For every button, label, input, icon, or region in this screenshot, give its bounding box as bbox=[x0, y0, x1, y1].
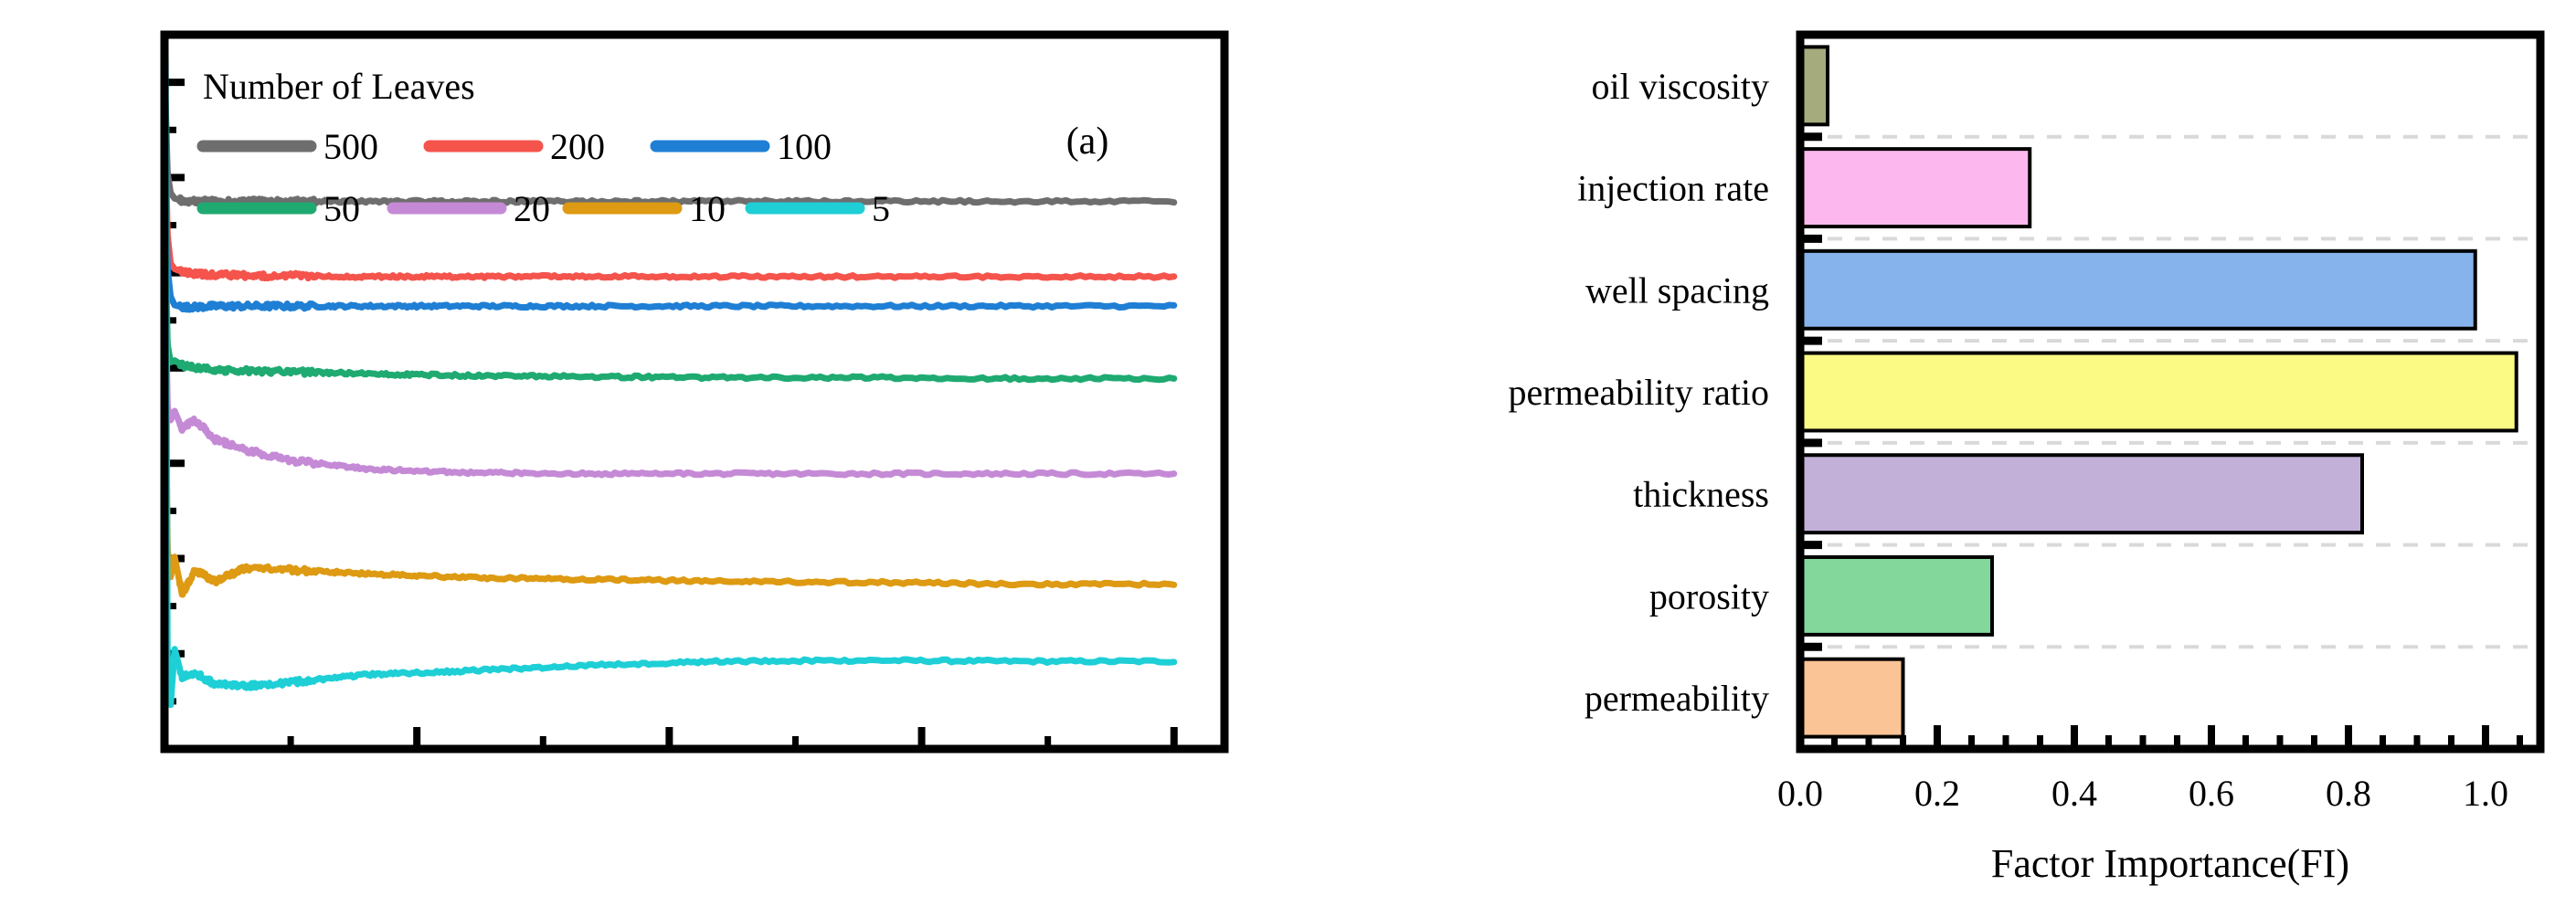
clip-top bbox=[0, 0, 1261, 31]
panel-a-line-chart: 4050607080901001100500100015002000Number… bbox=[0, 0, 1261, 917]
x-tick-label: 0.6 bbox=[2189, 773, 2234, 814]
legend-label-50: 50 bbox=[323, 188, 360, 229]
bar-chart-svg: oil viscosityinjection ratewell spacingp… bbox=[1261, 0, 2576, 917]
panel-tag-a: (a) bbox=[1066, 121, 1109, 163]
x-tick-label: 0.4 bbox=[2051, 773, 2097, 814]
line-series-50 bbox=[164, 244, 1174, 379]
clip-right bbox=[1229, 0, 1261, 917]
bar-injection-rate[interactable] bbox=[1800, 149, 2030, 227]
legend-label-200: 200 bbox=[550, 126, 605, 167]
bar-permeability-ratio[interactable] bbox=[1800, 353, 2517, 431]
figure-container: 4050607080901001100500100015002000Number… bbox=[0, 0, 2576, 917]
line-series-20 bbox=[164, 292, 1174, 476]
bar-category-label: porosity bbox=[1649, 575, 1769, 617]
bar-thickness[interactable] bbox=[1800, 455, 2362, 532]
line-series-10 bbox=[164, 368, 1174, 595]
bar-well-spacing[interactable] bbox=[1800, 251, 2475, 329]
legend-title: Number of Leaves bbox=[203, 66, 475, 107]
bar-permeability[interactable] bbox=[1800, 659, 1903, 737]
x-tick-label: 1.0 bbox=[2463, 773, 2508, 814]
bar-category-label: well spacing bbox=[1585, 269, 1769, 311]
legend-label-500: 500 bbox=[323, 126, 378, 167]
clip-bottom bbox=[0, 754, 1261, 917]
bar-porosity[interactable] bbox=[1800, 557, 1992, 635]
bar-category-label: permeability ratio bbox=[1509, 372, 1769, 413]
x-tick-label: 0.8 bbox=[2326, 773, 2371, 814]
bar-category-label: thickness bbox=[1633, 474, 1769, 515]
clip-left bbox=[0, 0, 161, 917]
legend-label-20: 20 bbox=[514, 188, 550, 229]
x-axis-title: Factor Importance(FI) bbox=[1991, 841, 2349, 886]
panel-b-bar-chart: oil viscosityinjection ratewell spacingp… bbox=[1261, 0, 2576, 917]
legend-label-100: 100 bbox=[777, 126, 832, 167]
bar-category-label: injection rate bbox=[1577, 168, 1769, 209]
bar-category-label: oil viscosity bbox=[1592, 66, 1769, 107]
line-series-500 bbox=[164, 101, 1174, 204]
line-chart-svg: 4050607080901001100500100015002000Number… bbox=[0, 0, 1261, 917]
legend-label-10: 10 bbox=[689, 188, 726, 229]
x-tick-label: 0.0 bbox=[1777, 773, 1823, 814]
x-tick-label: 0.2 bbox=[1914, 773, 1960, 814]
bar-category-label: permeability bbox=[1585, 678, 1769, 719]
legend-label-5: 5 bbox=[872, 188, 890, 229]
